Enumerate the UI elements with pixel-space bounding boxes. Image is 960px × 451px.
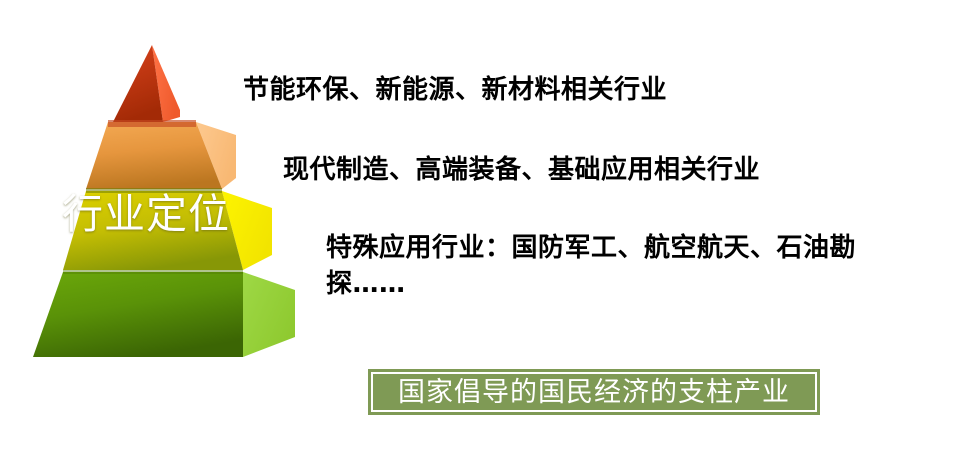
- pyramid-level-3-divider: [63, 270, 243, 274]
- slide-canvas: 行业定位 节能环保、新能源、新材料相关行业 现代制造、高端装备、基础应用相关行业…: [0, 0, 960, 451]
- pyramid-diagram: 行业定位: [0, 0, 330, 400]
- pyramid-level-4: [33, 272, 295, 357]
- pyramid-level-1: [108, 45, 196, 127]
- pyramid-level-2: [86, 122, 236, 193]
- content-line-2: 现代制造、高端装备、基础应用相关行业: [283, 152, 923, 188]
- highlight-banner-inner: 国家倡导的国民经济的支柱产业: [371, 372, 817, 412]
- pyramid-level-1-base-shadow: [108, 120, 196, 127]
- highlight-banner: 国家倡导的国民经济的支柱产业: [368, 369, 820, 415]
- highlight-banner-text: 国家倡导的国民经济的支柱产业: [398, 379, 790, 406]
- content-line-1: 节能环保、新能源、新材料相关行业: [243, 72, 903, 108]
- content-line-3: 特殊应用行业：国防军工、航空航天、石油勘探……: [326, 230, 882, 302]
- pyramid-center-label: 行业定位: [62, 194, 252, 235]
